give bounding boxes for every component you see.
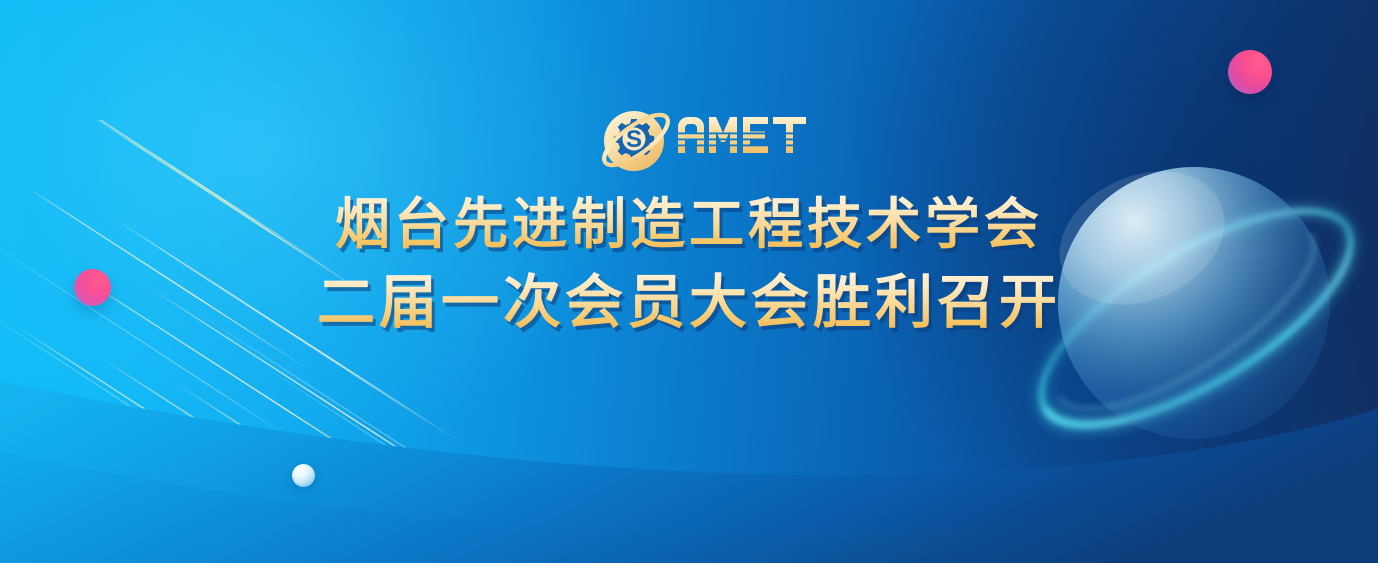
pink-sphere-icon bbox=[1228, 50, 1272, 94]
event-banner: S bbox=[0, 0, 1378, 563]
background-gradient bbox=[0, 0, 1378, 563]
pink-sphere-icon bbox=[74, 269, 111, 306]
gear-globe-icon: S bbox=[594, 96, 682, 180]
white-sphere-icon bbox=[292, 464, 315, 487]
amet-wordmark bbox=[676, 113, 808, 164]
amet-logo: S bbox=[594, 96, 794, 180]
